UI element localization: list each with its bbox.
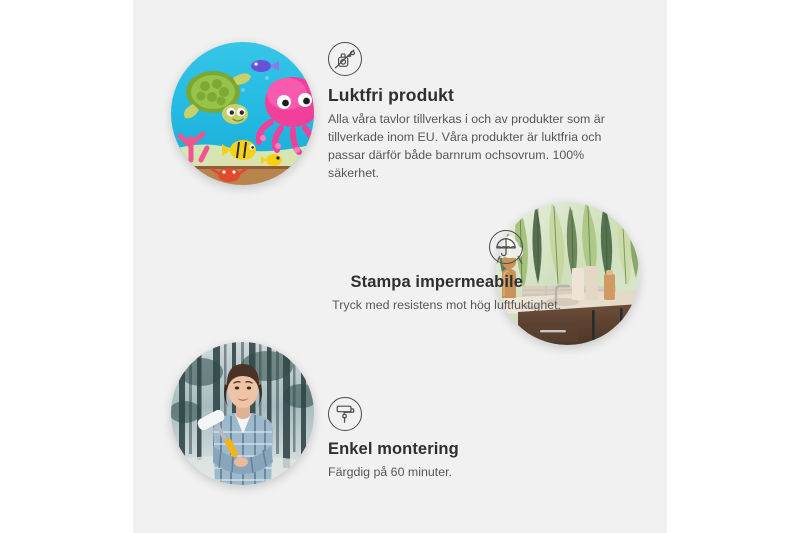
paint-roller-icon (328, 397, 362, 431)
no-odour-perfume-bottle-icon (328, 42, 362, 76)
product-feature-infographic: Luktfri produkt Alla våra tavlor tillver… (0, 0, 800, 533)
feature-block-odour-free: Luktfri produkt Alla våra tavlor tillver… (328, 42, 628, 183)
feature-title: Enkel montering (328, 440, 588, 459)
feature-block-waterproof: Stampa impermeabile Tryck med resistens … (193, 230, 523, 315)
feature-description: Färgdig på 60 minuter. (328, 464, 588, 482)
feature-title: Stampa impermeabile (193, 273, 523, 292)
woman-with-paint-roller-photo (171, 342, 314, 485)
feature-description: Tryck med resistens mot hög luftfuktighe… (193, 297, 561, 315)
feature-block-easy-assembly: Enkel montering Färgdig på 60 minuter. (328, 397, 588, 482)
infographic-canvas: Luktfri produkt Alla våra tavlor tillver… (133, 0, 667, 533)
feature-title: Luktfri produkt (328, 85, 628, 106)
feature-description: Alla våra tavlor tillverkas i och av pro… (328, 111, 628, 183)
umbrella-icon (489, 230, 523, 264)
underwater-cartoon-sea-life-photo (171, 42, 314, 185)
